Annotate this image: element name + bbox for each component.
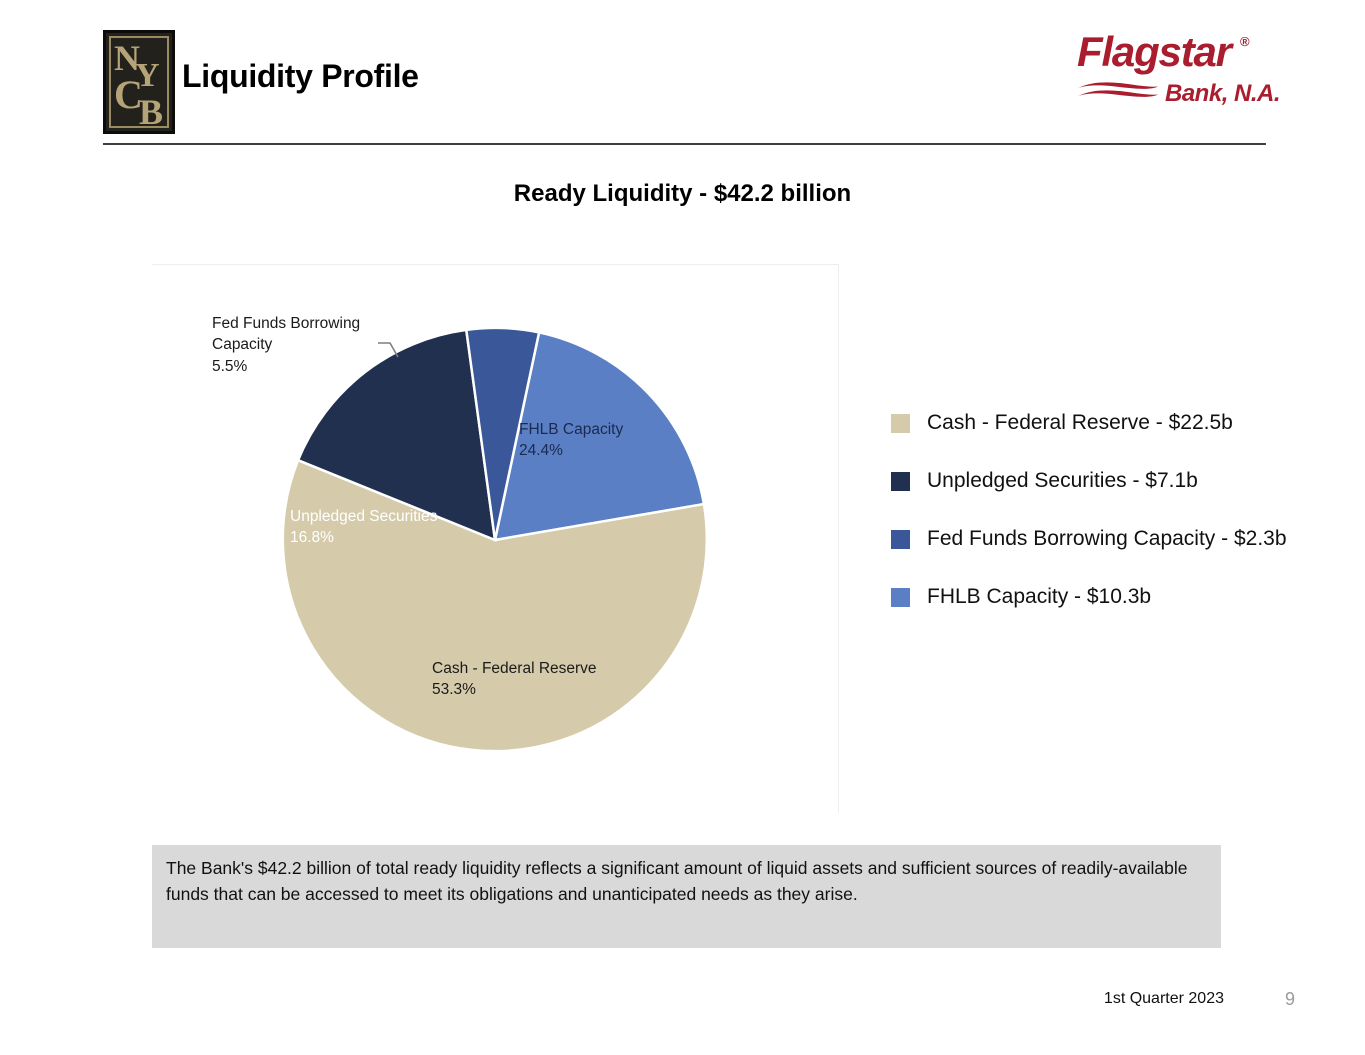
pie-label-cash-name: Cash - Federal Reserve [432, 658, 597, 679]
legend-swatch-icon-cash [891, 414, 910, 433]
nycb-letter-b: B [139, 94, 163, 130]
registered-trademark-icon: ® [1240, 34, 1250, 49]
legend-item-fhlb-capacity[interactable]: FHLB Capacity - $10.3b [891, 568, 1351, 626]
flagstar-wave-icon [1077, 80, 1159, 102]
pie-label-fed-funds-line2: Capacity [212, 334, 360, 355]
page-title: Liquidity Profile [182, 58, 419, 95]
pie-label-fed-funds-pct: 5.5% [212, 356, 360, 377]
pie-label-fed-funds-borrowing-capacity: Fed Funds Borrowing Capacity 5.5% [212, 313, 360, 377]
flagstar-subtitle: Bank, N.A. [1165, 80, 1280, 108]
legend-swatch-icon-fhlb [891, 588, 910, 607]
pie-label-cash-pct: 53.3% [432, 679, 597, 700]
legend-label-unpledged: Unpledged Securities - $7.1b [927, 469, 1198, 493]
pie-label-fhlb-capacity: FHLB Capacity 24.4% [519, 419, 623, 462]
callout-text: The Bank's $42.2 billion of total ready … [166, 855, 1211, 908]
pie-label-fhlb-pct: 24.4% [519, 440, 623, 461]
callout-box: The Bank's $42.2 billion of total ready … [152, 845, 1221, 948]
legend-label-cash: Cash - Federal Reserve - $22.5b [927, 411, 1233, 435]
legend-item-cash-federal-reserve[interactable]: Cash - Federal Reserve - $22.5b [891, 394, 1351, 452]
legend-label-fed-funds: Fed Funds Borrowing Capacity - $2.3b [927, 527, 1287, 551]
pie-label-unpledged-pct: 16.8% [290, 527, 437, 548]
legend-swatch-icon-fed-funds [891, 530, 910, 549]
chart-title: Ready Liquidity - $42.2 billion [0, 180, 1365, 208]
legend-label-fhlb: FHLB Capacity - $10.3b [927, 585, 1151, 609]
pie-label-cash-federal-reserve: Cash - Federal Reserve 53.3% [432, 658, 597, 701]
pie-label-unpledged-name: Unpledged Securities [290, 506, 437, 527]
flagstar-logo: Flagstar ® Bank, N.A. [1077, 28, 1267, 112]
footer-page-number: 9 [1285, 989, 1295, 1010]
legend-item-unpledged-securities[interactable]: Unpledged Securities - $7.1b [891, 452, 1351, 510]
nycb-logo: N Y C B [103, 30, 175, 134]
legend-item-fed-funds-borrowing-capacity[interactable]: Fed Funds Borrowing Capacity - $2.3b [891, 510, 1351, 568]
legend-swatch-icon-unpledged [891, 472, 910, 491]
nycb-logo-frame: N Y C B [109, 36, 169, 128]
footer-period: 1st Quarter 2023 [1104, 990, 1224, 1008]
flagstar-wordmark: Flagstar [1077, 28, 1231, 76]
pie-label-unpledged-securities: Unpledged Securities 16.8% [290, 506, 437, 549]
header-divider [103, 143, 1266, 145]
chart-legend: Cash - Federal Reserve - $22.5b Unpledge… [891, 394, 1351, 626]
pie-label-fed-funds-line1: Fed Funds Borrowing [212, 313, 360, 334]
pie-label-fhlb-name: FHLB Capacity [519, 419, 623, 440]
slide-header: N Y C B Liquidity Profile Flagstar ® Ban… [0, 0, 1365, 150]
